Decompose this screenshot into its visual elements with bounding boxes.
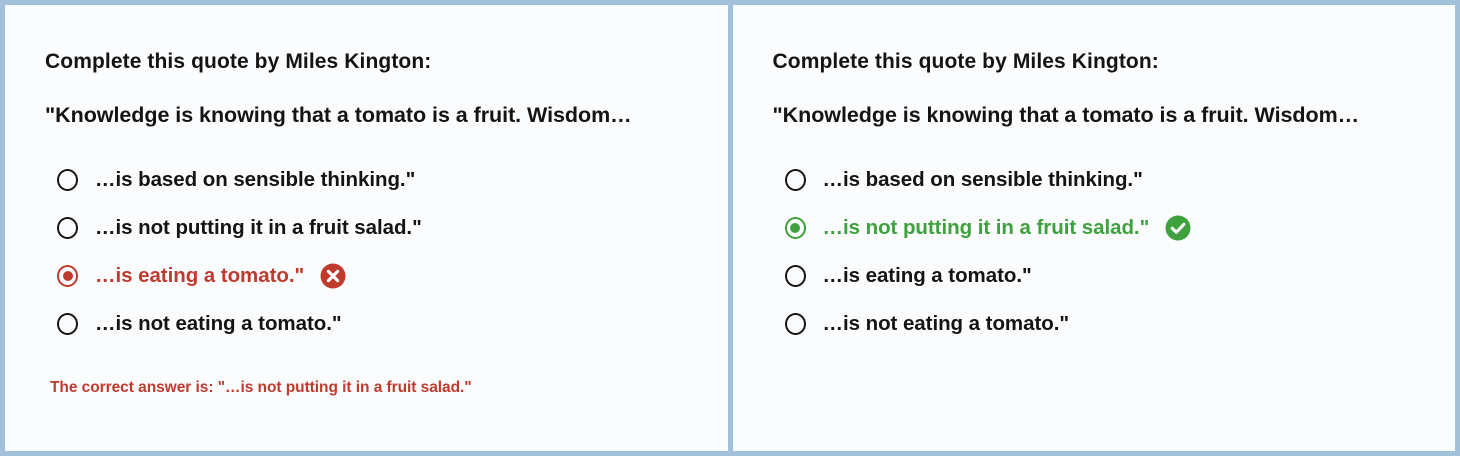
answer-option-4[interactable]: …is not eating a tomato." — [773, 300, 1456, 348]
answer-option-label: …is not eating a tomato." — [95, 312, 342, 336]
radio-button-selected[interactable] — [57, 265, 78, 287]
answer-option-3[interactable]: …is eating a tomato." — [773, 252, 1456, 300]
radio-button-unselected[interactable] — [785, 265, 806, 287]
correct-answer-feedback: The correct answer is: "…is not putting … — [45, 379, 728, 397]
page-title: Complete this quote by Miles Kington: — [45, 49, 728, 74]
answer-option-label: …is eating a tomato." — [823, 264, 1032, 288]
check-circle-icon — [1165, 215, 1191, 241]
radio-button-unselected[interactable] — [57, 313, 78, 335]
answer-option-1[interactable]: …is based on sensible thinking." — [45, 156, 728, 204]
radio-button-unselected[interactable] — [57, 217, 78, 239]
answer-option-label: …is not putting it in a fruit salad." — [95, 216, 422, 240]
answer-options-list: …is based on sensible thinking." …is not… — [45, 156, 728, 348]
answer-option-label: …is not eating a tomato." — [823, 312, 1070, 336]
quiz-panel-correct: Complete this quote by Miles Kington: "K… — [733, 5, 1456, 451]
answer-option-4[interactable]: …is not eating a tomato." — [45, 300, 728, 348]
radio-button-selected[interactable] — [785, 217, 806, 239]
page-title: Complete this quote by Miles Kington: — [773, 49, 1456, 74]
radio-button-unselected[interactable] — [785, 313, 806, 335]
answer-options-list: …is based on sensible thinking." …is not… — [773, 156, 1456, 348]
quote-text: "Knowledge is knowing that a tomato is a… — [45, 103, 728, 129]
answer-option-2[interactable]: …is not putting it in a fruit salad." — [45, 204, 728, 252]
radio-button-unselected[interactable] — [57, 169, 78, 191]
answer-option-label: …is eating a tomato." — [95, 264, 304, 288]
answer-option-label: …is based on sensible thinking." — [95, 168, 415, 192]
quiz-comparison-frame: Complete this quote by Miles Kington: "K… — [0, 0, 1460, 456]
answer-option-label: …is based on sensible thinking." — [823, 168, 1143, 192]
quiz-panel-incorrect: Complete this quote by Miles Kington: "K… — [5, 5, 728, 451]
radio-button-unselected[interactable] — [785, 169, 806, 191]
answer-option-1[interactable]: …is based on sensible thinking." — [773, 156, 1456, 204]
quote-text: "Knowledge is knowing that a tomato is a… — [773, 103, 1456, 129]
answer-option-2-selected-correct[interactable]: …is not putting it in a fruit salad." — [773, 204, 1456, 252]
answer-option-3-selected-incorrect[interactable]: …is eating a tomato." — [45, 252, 728, 300]
answer-option-label: …is not putting it in a fruit salad." — [823, 216, 1150, 240]
x-circle-icon — [320, 263, 346, 289]
